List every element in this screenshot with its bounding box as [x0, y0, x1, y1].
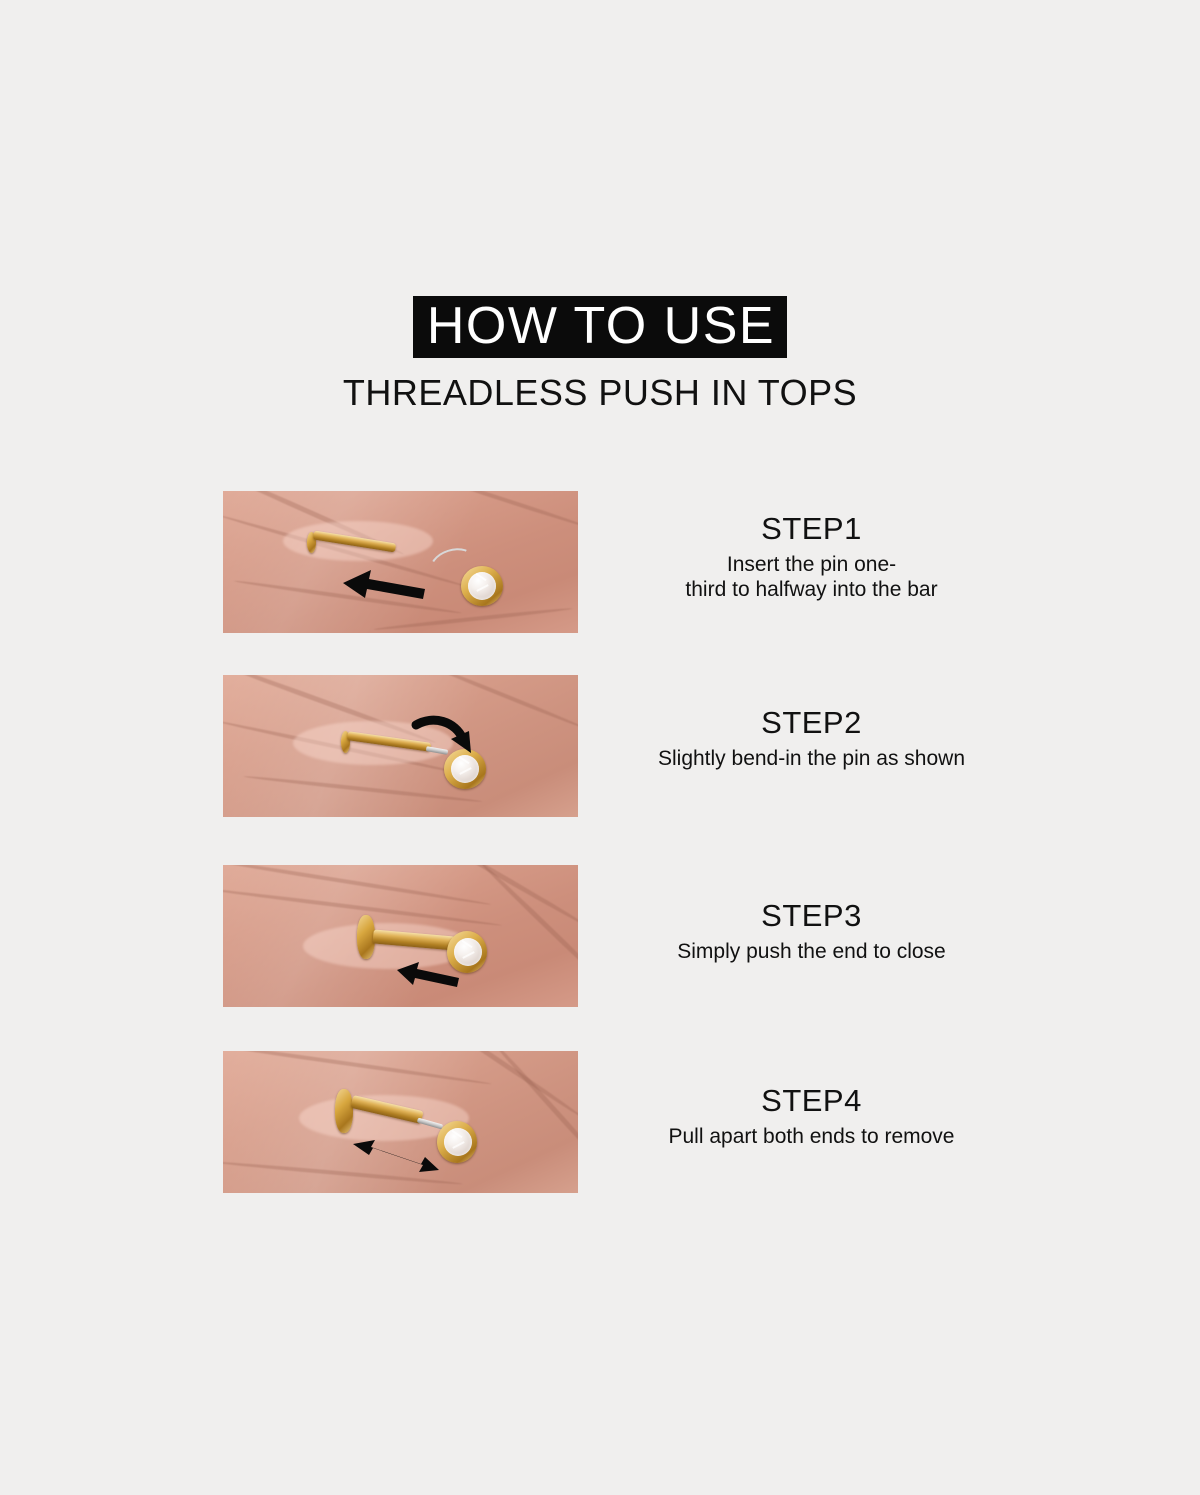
step-title: STEP4 — [600, 1083, 1023, 1119]
step-photo-1 — [223, 491, 578, 633]
step-row: STEP4 Pull apart both ends to remove — [223, 1051, 1023, 1193]
step-description: Slightly bend-in the pin as shown — [600, 746, 1023, 771]
page-subtitle: THREADLESS PUSH IN TOPS — [0, 372, 1200, 414]
step-title: STEP1 — [600, 511, 1023, 547]
step-text-4: STEP4 Pull apart both ends to remove — [600, 1083, 1023, 1149]
step-title: STEP2 — [600, 705, 1023, 741]
step-description-line1: Insert the pin one- — [727, 553, 896, 576]
step-description: Simply push the end to close — [600, 939, 1023, 964]
arrow-curved-down-right-icon — [413, 715, 477, 759]
step-photo-4 — [223, 1051, 578, 1193]
arrow-left-icon — [395, 961, 461, 989]
header: HOW TO USE THREADLESS PUSH IN TOPS — [0, 296, 1200, 414]
step-description: Insert the pin one- third to halfway int… — [600, 552, 1023, 602]
arrow-double-horizontal-icon — [351, 1139, 441, 1173]
step-row: STEP1 Insert the pin one- third to halfw… — [223, 491, 1023, 633]
step-description: Pull apart both ends to remove — [600, 1124, 1023, 1149]
step-text-3: STEP3 Simply push the end to close — [600, 898, 1023, 964]
step-photo-3 — [223, 865, 578, 1007]
cz-gem — [444, 1128, 472, 1156]
step-title: STEP3 — [600, 898, 1023, 934]
step-photo-2 — [223, 675, 578, 817]
step-text-2: STEP2 Slightly bend-in the pin as shown — [600, 705, 1023, 771]
step-text-1: STEP1 Insert the pin one- third to halfw… — [600, 511, 1023, 602]
arrow-left-icon — [341, 569, 427, 603]
step-row: STEP3 Simply push the end to close — [223, 865, 1023, 1007]
page-title: HOW TO USE — [413, 296, 787, 358]
step-row: STEP2 Slightly bend-in the pin as shown — [223, 675, 1023, 817]
labret-disc — [335, 1089, 353, 1133]
step-description-line2: third to halfway into the bar — [685, 578, 937, 601]
